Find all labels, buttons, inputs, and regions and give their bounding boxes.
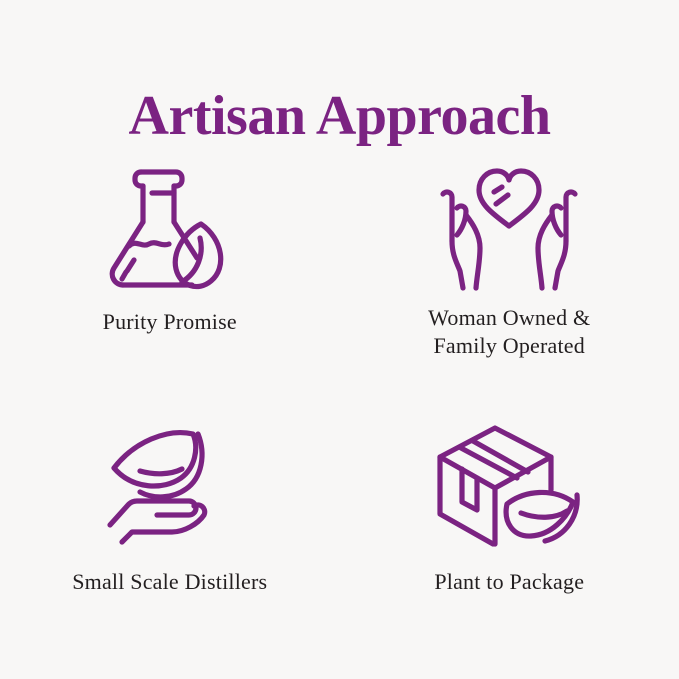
flask-leaf-icon	[85, 156, 255, 296]
artisan-approach-panel: Artisan Approach	[0, 0, 679, 679]
feature-label: Small Scale Distillers	[72, 568, 267, 596]
feature-grid: Purity Promise	[0, 150, 679, 650]
feature-label: Woman Owned & Family Operated	[428, 304, 590, 359]
feature-item-small-scale-distillers[interactable]: Small Scale Distillers	[0, 400, 340, 650]
hand-leaf-icon	[85, 416, 255, 556]
page-title: Artisan Approach	[0, 86, 679, 148]
feature-label: Plant to Package	[434, 568, 584, 596]
feature-label: Purity Promise	[103, 308, 237, 336]
box-leaf-icon	[424, 416, 594, 556]
feature-item-purity-promise[interactable]: Purity Promise	[0, 150, 340, 400]
feature-item-woman-owned[interactable]: Woman Owned & Family Operated	[340, 150, 679, 400]
feature-item-plant-to-package[interactable]: Plant to Package	[340, 400, 679, 650]
hands-heart-icon	[424, 156, 594, 296]
